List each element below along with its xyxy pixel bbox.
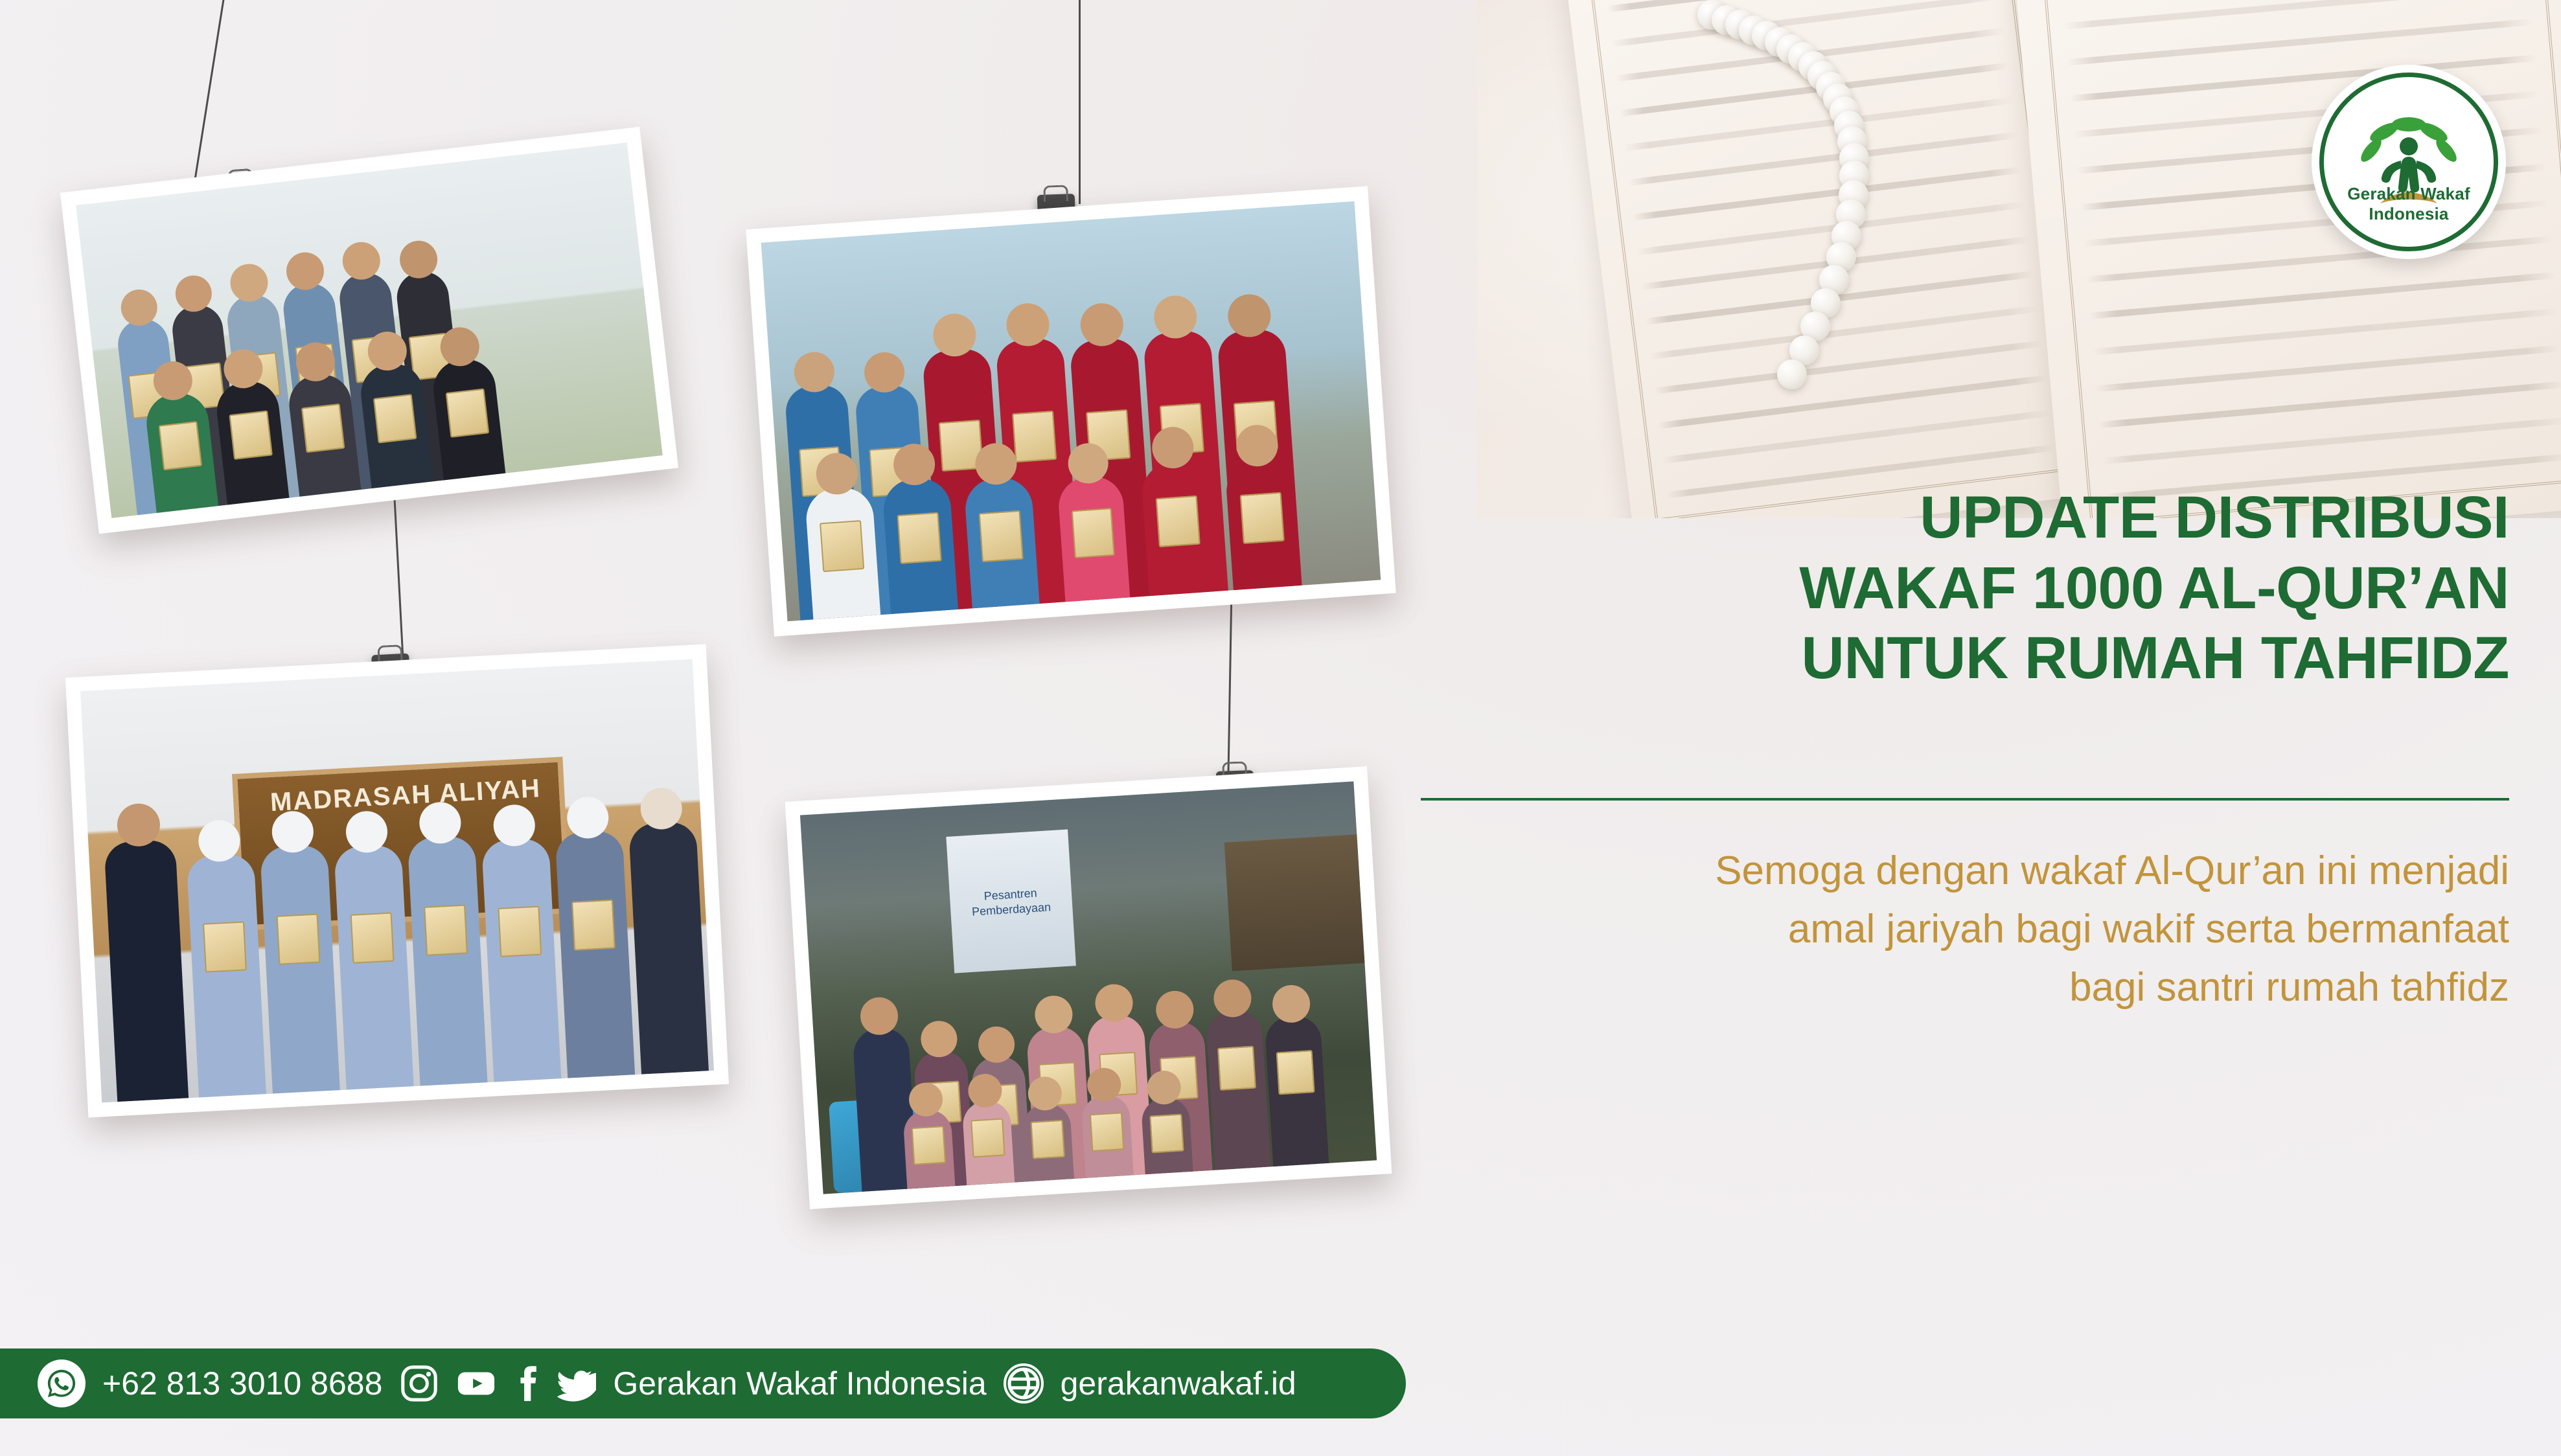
headline-line-3: UNTUK RUMAH TAHFIDZ <box>1369 623 2509 694</box>
twitter-icon[interactable] <box>556 1363 596 1404</box>
footer-phone[interactable]: +62 813 3010 8688 <box>102 1365 382 1402</box>
logo-label: Gerakan Wakaf Indonesia <box>2312 184 2506 224</box>
brand-logo: Gerakan Wakaf Indonesia <box>2312 65 2506 259</box>
subtext: Semoga dengan wakaf Al-Qur’an ini menjad… <box>1395 842 2509 1017</box>
whatsapp-icon[interactable] <box>38 1359 86 1407</box>
headline-line-1: UPDATE DISTRIBUSI <box>1369 483 2509 553</box>
photo-4-people <box>800 781 1377 1194</box>
headline-divider <box>1421 798 2509 801</box>
subtext-line-1: Semoga dengan wakaf Al-Qur’an ini menjad… <box>1395 842 2509 900</box>
instagram-icon[interactable] <box>399 1363 439 1404</box>
hanging-string <box>1079 0 1081 204</box>
headline: UPDATE DISTRIBUSI WAKAF 1000 AL-QUR’AN U… <box>1369 483 2509 694</box>
subtext-line-2: amal jariyah bagi wakif serta bermanfaat <box>1395 900 2509 959</box>
photo-3-people <box>80 659 714 1103</box>
whatsapp-glyph <box>45 1367 78 1400</box>
footer-social-handle: Gerakan Wakaf Indonesia <box>613 1365 986 1402</box>
photo-card-4: Pesantren Pemberdayaan <box>785 766 1392 1209</box>
subtext-line-3: bagi santri rumah tahfidz <box>1395 959 2509 1017</box>
facebook-icon[interactable] <box>513 1363 539 1404</box>
logo-inner: Gerakan Wakaf Indonesia <box>2312 65 2506 259</box>
photo-1-people <box>76 142 663 518</box>
globe-icon[interactable] <box>1004 1363 1044 1404</box>
quran-text-lines <box>1556 0 2099 518</box>
quran-page-left <box>1556 0 2099 518</box>
photo-card-3: MADRASAH ALIYAH <box>65 644 729 1118</box>
photo-card-1 <box>60 127 678 534</box>
headline-line-2: WAKAF 1000 AL-QUR’AN <box>1369 553 2509 624</box>
photo-1-image <box>76 142 663 518</box>
photo-3-image: MADRASAH ALIYAH <box>80 659 714 1103</box>
tree-person-logo-icon <box>2312 65 2506 259</box>
photo-4-image: Pesantren Pemberdayaan <box>800 781 1377 1194</box>
photo-2-image <box>761 201 1381 622</box>
footer-website[interactable]: gerakanwakaf.id <box>1061 1365 1296 1402</box>
footer-contact-bar: +62 813 3010 8688 Gerakan Wakaf Indonesi… <box>0 1348 1406 1418</box>
youtube-icon[interactable] <box>456 1363 496 1404</box>
photo-2-people <box>761 201 1381 622</box>
photo-card-2 <box>746 186 1396 637</box>
